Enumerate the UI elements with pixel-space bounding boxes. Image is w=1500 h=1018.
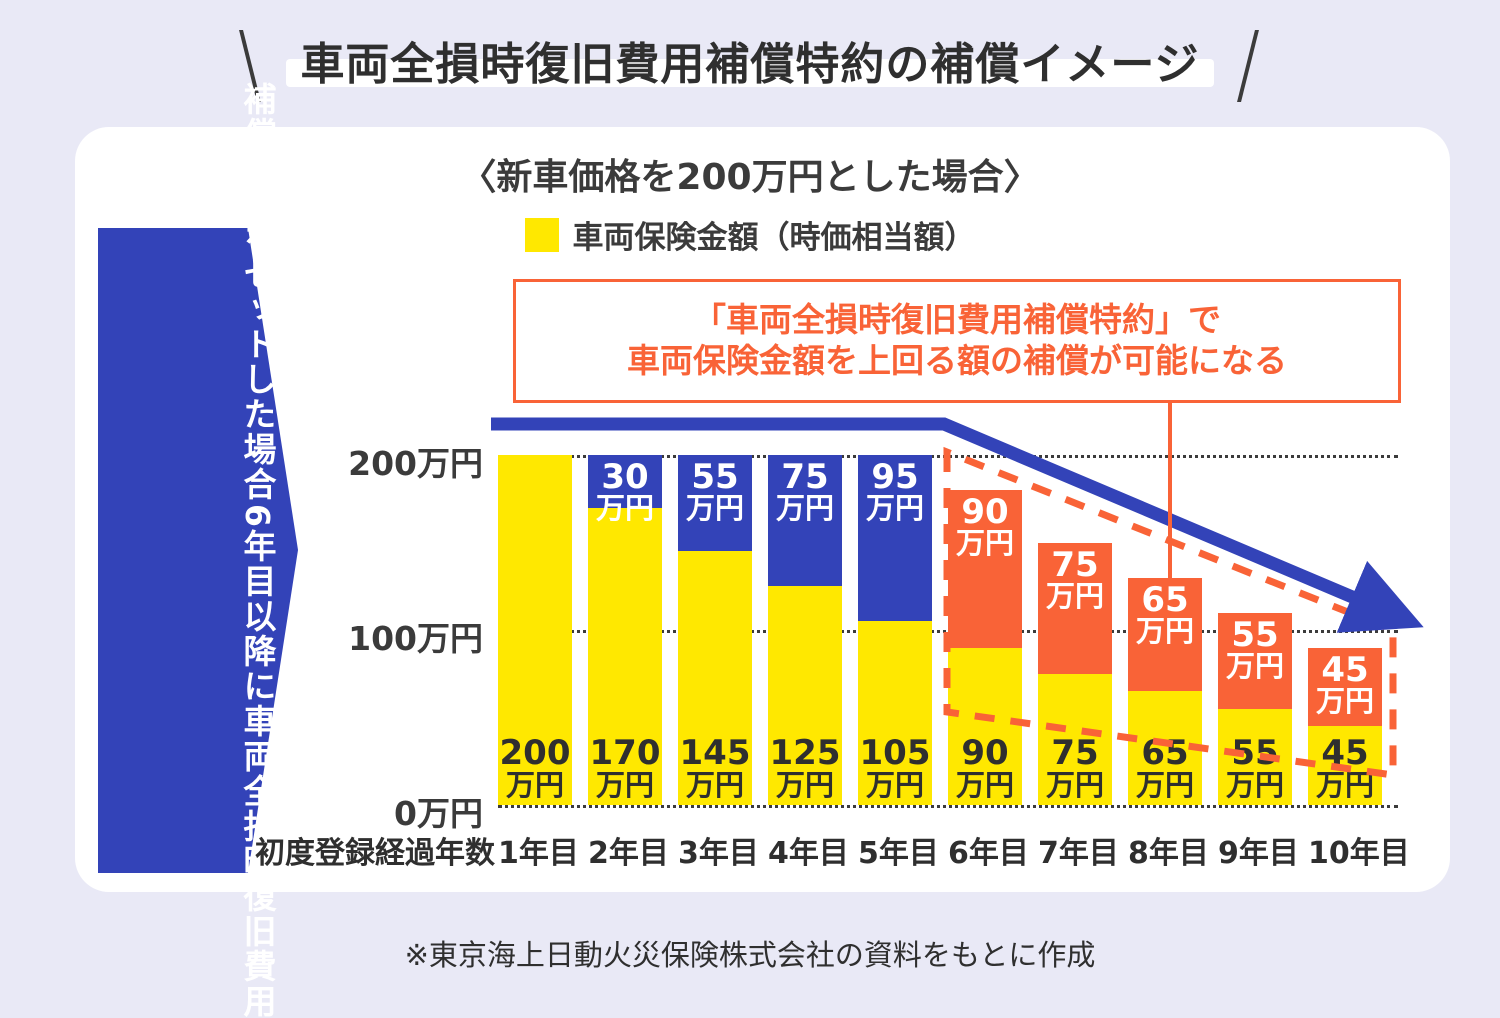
banner-line-2: 補償特約をセットした場合 [104,82,274,502]
bar-segment-top-2: 30 万円 [588,455,662,508]
chart-legend: 車両保険金額（時価相当額） [380,212,1120,257]
bar-label-top-7: 75 万円 [1046,543,1104,611]
bar-label-base-3: 145 万円 [680,737,751,805]
bar-label-top-5: 95 万円 [866,455,924,523]
bar-segment-base-4: 125 万円 [768,586,842,805]
bar-segment-base-1: 200 万円 [498,455,572,805]
xaxis-title: 初度登録経過年数 [255,828,495,872]
bar-label-base-8: 65 万円 [1136,737,1194,805]
infographic-page: 車両全損時復旧費用補償特約の補償イメージ 〈新車価格を200万円とした場合〉 車… [0,0,1500,1000]
xaxis-category-4: 4年目 [768,828,842,872]
legend-swatch-yellow [525,218,559,252]
xaxis-category-2: 2年目 [588,828,662,872]
bar-segment-base-5: 105 万円 [858,621,932,805]
bar-label-top-8: 65 万円 [1136,578,1194,646]
side-banner: 6年目以降に車両全損時復旧費用 補償特約をセットした場合 [98,228,298,873]
xaxis-category-3: 3年目 [678,828,752,872]
bar-label-base-2: 170 万円 [590,737,661,805]
xaxis-category-9: 9年目 [1218,828,1292,872]
bar-segment-base-9: 55 万円 [1218,709,1292,805]
xaxis-category-10: 10年目 [1308,828,1382,872]
bar-label-top-9: 55 万円 [1226,613,1284,681]
bar-label-base-1: 200 万円 [500,737,571,805]
bar-segment-top-6: 90 万円 [948,490,1022,648]
bar-segment-base-8: 65 万円 [1128,691,1202,805]
bar-segment-base-6: 90 万円 [948,648,1022,806]
source-footnote: ※東京海上日動火災保険株式会社の資料をもとに作成 [0,932,1500,974]
bar-segment-base-10: 45 万円 [1308,726,1382,805]
bar-segment-top-8: 65 万円 [1128,578,1202,692]
callout-box: 「車両全損時復旧費用補償特約」で 車両保険金額を上回る額の補償が可能になる [513,279,1401,403]
bar-segment-top-9: 55 万円 [1218,613,1292,709]
legend-label-yellow: 車両保険金額（時価相当額） [573,212,976,257]
bar-segment-top-4: 75 万円 [768,455,842,586]
title-text: 車両全損時復旧費用補償特約の補償イメージ [300,39,1199,90]
bar-label-base-9: 55 万円 [1226,737,1284,805]
xaxis-category-1: 1年目 [498,828,572,872]
bar-label-top-10: 45 万円 [1316,648,1374,716]
bar-segment-top-3: 55 万円 [678,455,752,551]
xaxis-category-7: 7年目 [1038,828,1112,872]
bar-segment-base-7: 75 万円 [1038,674,1112,805]
bar-label-base-5: 105 万円 [860,737,931,805]
xaxis-category-6: 6年目 [948,828,1022,872]
bar-group: 200 万円 170 万円 30 万円 [498,455,1398,805]
bar-label-top-2: 30 万円 [596,455,654,523]
bar-label-base-7: 75 万円 [1046,737,1104,805]
bar-segment-top-7: 75 万円 [1038,543,1112,674]
callout-line-1: 「車両全損時復旧費用補償特約」で [693,301,1221,340]
callout-connector-line [1168,402,1172,578]
xaxis-category-5: 5年目 [858,828,932,872]
bar-label-base-4: 125 万円 [770,737,841,805]
title-right-slash-icon [1236,28,1262,102]
bar-label-top-3: 55 万円 [686,455,744,523]
bar-label-base-10: 45 万円 [1316,737,1374,805]
bar-segment-base-2: 170 万円 [588,508,662,806]
bar-label-base-6: 90 万円 [956,737,1014,805]
callout-line-2: 車両保険金額を上回る額の補償が可能になる [627,342,1287,381]
bar-label-top-6: 90 万円 [956,490,1014,558]
xaxis-category-8: 8年目 [1128,828,1202,872]
bar-segment-base-3: 145 万円 [678,551,752,805]
bar-segment-top-10: 45 万円 [1308,648,1382,727]
bar-segment-top-5: 95 万円 [858,455,932,621]
bar-label-top-4: 75 万円 [776,455,834,523]
chart-subtitle: 〈新車価格を200万円とした場合〉 [380,148,1120,200]
